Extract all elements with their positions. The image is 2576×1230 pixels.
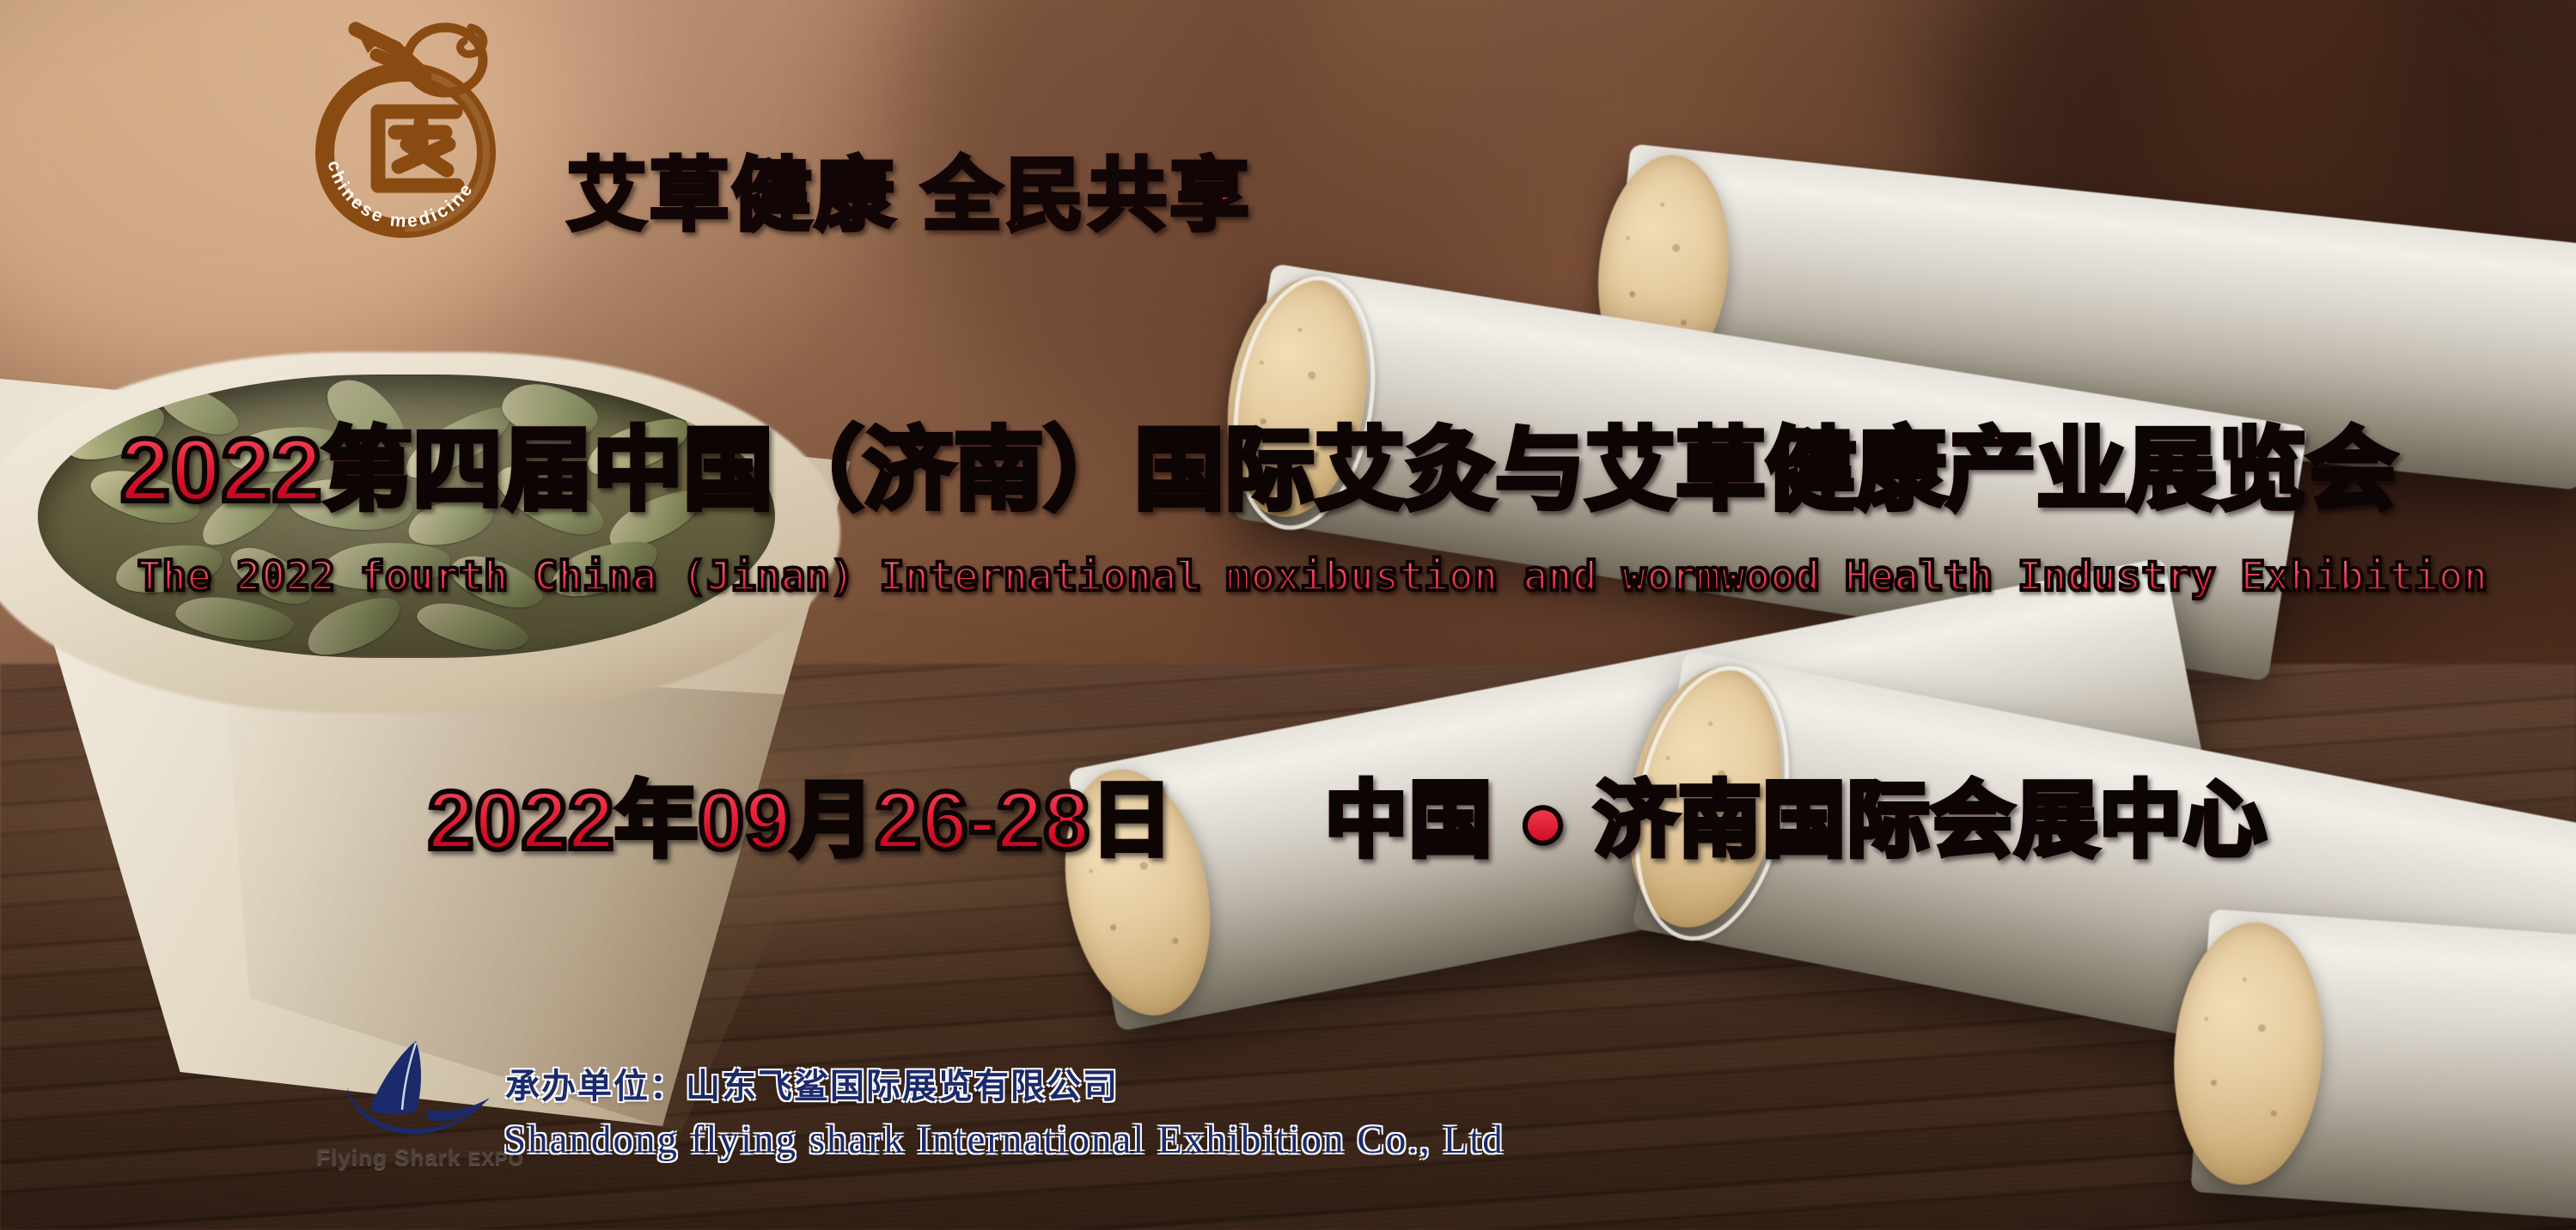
flying-shark-caption: Flying Shark EXPO — [308, 1144, 533, 1171]
event-venue: 中国 ● 济南国际会展中心 — [1325, 780, 2268, 862]
chinese-medicine-logo: chinese medicine — [302, 19, 507, 241]
flying-shark-logo: Flying Shark EXPO — [308, 1038, 533, 1184]
title-english: The 2022 fourth China (Jinan) Internatio… — [137, 557, 2488, 597]
event-date: 2022年09月26-28日 — [428, 780, 1174, 862]
organizer-chinese: 承办单位：山东飞鲨国际展览有限公司 — [505, 1058, 1119, 1108]
slogan-text: 艾草健康 全民共享 — [567, 156, 1253, 235]
content-layer: chinese medicine 艾草健康 全民共享 2022第四届中国（济南）… — [0, 0, 2576, 1230]
title-chinese: 2022第四届中国（济南）国际艾灸与艾草健康产业展览会 — [120, 426, 2397, 515]
organizer-english: Shandong flying shark International Exhi… — [504, 1117, 1505, 1163]
exhibition-banner: chinese medicine 艾草健康 全民共享 2022第四届中国（济南）… — [0, 0, 2576, 1230]
flying-shark-caption-main: Flying Shark — [316, 1144, 461, 1170]
